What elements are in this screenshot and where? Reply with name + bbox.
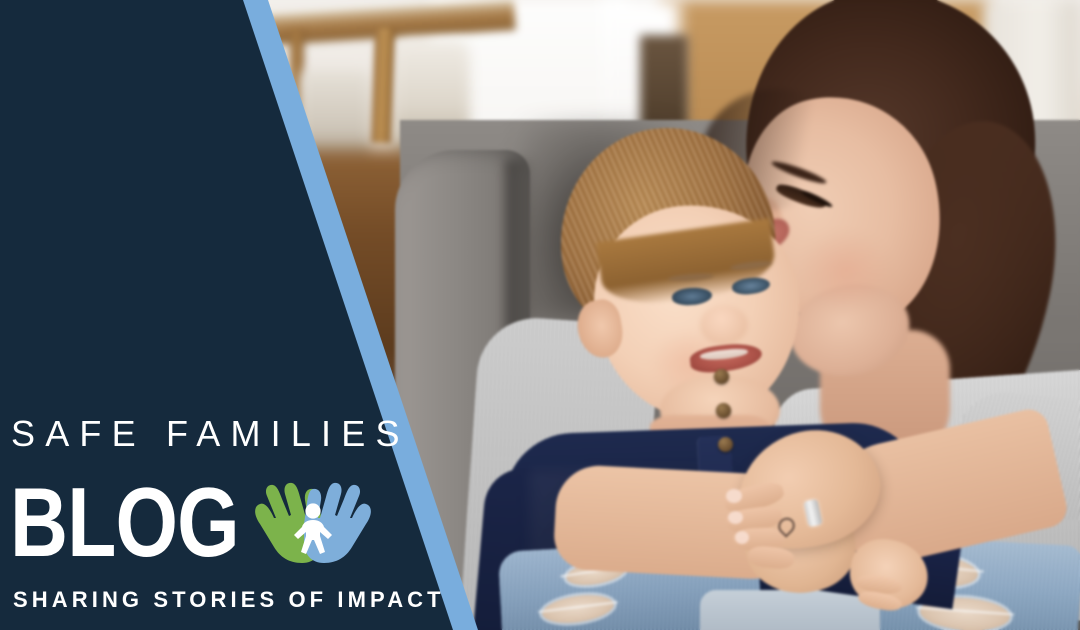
photo-mother-cheek <box>800 230 890 310</box>
photo-fingernail-2 <box>728 511 743 524</box>
photo-fingernail-3 <box>735 531 749 544</box>
photo-shirt-button-3 <box>718 437 733 452</box>
photo-table-leg-front <box>371 28 395 144</box>
photo-fingernail-1 <box>726 489 742 503</box>
safe-families-blog-banner: SAFE FAMILIES BLOG <box>0 0 1080 630</box>
photo-shirt-button-2 <box>716 403 731 418</box>
photo-jeans-center <box>700 590 880 630</box>
photo-shirt-button-1 <box>714 369 729 384</box>
